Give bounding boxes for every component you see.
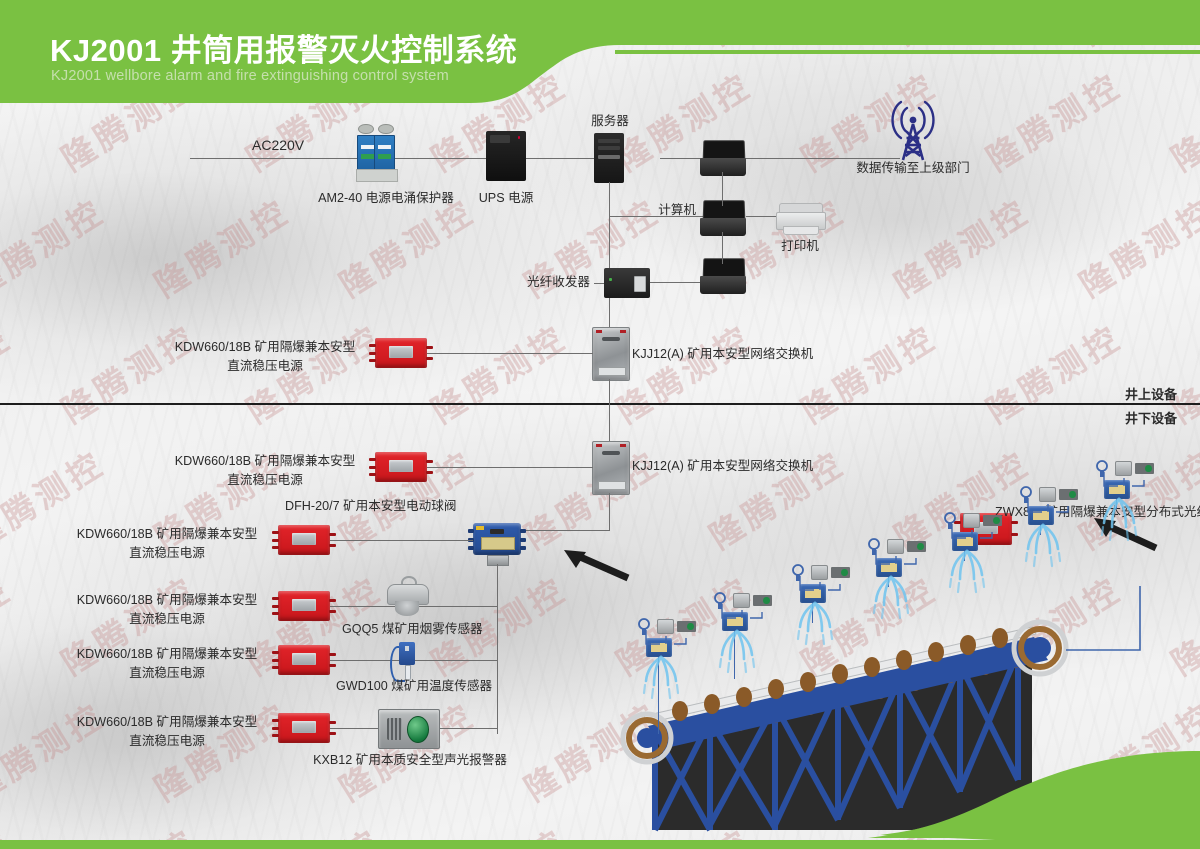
ps-surface-lug-2 xyxy=(369,352,376,355)
device-sound-light-alarm xyxy=(378,709,440,749)
ball-valve-ma-mark xyxy=(476,526,483,530)
surface-underground-divider xyxy=(0,403,1200,405)
label-power-supply-surface: KDW660/18B 矿用隔爆兼本安型 直流稳压电源 xyxy=(160,338,370,376)
device-smoke-sensor xyxy=(383,576,431,620)
wire-sensor-collector xyxy=(497,564,498,734)
device-network-switch-surface xyxy=(592,327,630,381)
wire-power-main xyxy=(190,158,614,159)
ups-panel xyxy=(490,135,510,143)
device-server xyxy=(594,133,624,183)
ps-surface-lug-3 xyxy=(369,359,376,362)
printer-tray xyxy=(783,226,820,235)
device-network-switch-underground xyxy=(592,441,630,495)
label-computer: 计算机 xyxy=(600,202,696,219)
label-sound-light-alarm: KXB12 矿用本质安全型声光报警器 xyxy=(310,752,510,769)
device-computer-3 xyxy=(700,258,746,294)
page-header: KJ2001 井筒用报警灭火控制系统 KJ2001 wellbore alarm… xyxy=(0,0,1200,103)
device-power-supply-u3 xyxy=(278,591,330,621)
surge-button-left xyxy=(358,124,374,134)
label-power-supply-u4: KDW660/18B 矿用隔爆兼本安型 直流稳压电源 xyxy=(62,645,272,683)
ps-surface-lug-1 xyxy=(369,344,376,347)
surge-button-right xyxy=(378,124,394,134)
device-fiber-transceiver xyxy=(604,268,650,298)
sprinkler-wiring xyxy=(944,520,1000,546)
label-below-ground: 井下设备 xyxy=(1125,410,1177,427)
server-bay-2 xyxy=(598,146,621,150)
ps-surface-lug-4 xyxy=(426,346,433,349)
sprinkler-spray-icon xyxy=(1098,497,1142,545)
label-power-supply-u5: KDW660/18B 矿用隔爆兼本安型 直流稳压电源 xyxy=(62,713,272,751)
device-temperature-sensor xyxy=(388,639,426,681)
alarm-horn xyxy=(387,718,401,739)
computer-1-base xyxy=(700,158,746,176)
switch-surface-tag-l xyxy=(596,330,602,333)
sprinkler-wiring xyxy=(714,600,770,626)
label-ps-u2-line2: 直流稳压电源 xyxy=(62,544,272,563)
sprinkler-spray-icon xyxy=(1022,523,1066,571)
sprinkler-spray-icon xyxy=(640,655,684,703)
switch-ug-slot xyxy=(602,451,619,455)
smoke-sensor-chamber xyxy=(395,601,420,616)
label-ac220v: AC220V xyxy=(252,137,304,154)
label-ps-u1-line1: KDW660/18B 矿用隔爆兼本安型 xyxy=(160,452,370,471)
ball-valve-window xyxy=(490,529,503,533)
alarm-lamp xyxy=(407,716,429,743)
label-temperature-sensor: GWD100 煤矿用温度传感器 xyxy=(336,678,488,695)
wire-computer-2-3 xyxy=(722,232,723,264)
switch-surface-plate xyxy=(598,367,626,376)
label-smoke-sensor: GQQ5 煤矿用烟雾传感器 xyxy=(342,621,482,638)
wire-uplink xyxy=(660,158,900,159)
label-ps-surface-line1: KDW660/18B 矿用隔爆兼本安型 xyxy=(160,338,370,357)
sprinkler-spray-icon xyxy=(946,549,990,597)
wire-computer-1-2 xyxy=(722,172,723,206)
wire-ps-u1-switch xyxy=(427,467,593,468)
device-computer-1 xyxy=(700,140,746,176)
label-ps-u2-line1: KDW660/18B 矿用隔爆兼本安型 xyxy=(62,525,272,544)
device-power-supply-u1 xyxy=(375,452,427,482)
sprinkler-wiring xyxy=(868,546,924,572)
switch-ug-plate xyxy=(598,481,626,490)
device-power-supply-u4 xyxy=(278,645,330,675)
sprinkler-node xyxy=(712,588,802,678)
uplink-antenna-icon xyxy=(885,98,941,164)
ball-valve-plate xyxy=(481,537,516,550)
label-uplink-antenna: 数据传输至上级部门 xyxy=(843,160,983,177)
diagram-canvas: 隆腾测控隆腾测控隆腾测控隆腾测控隆腾测控隆腾测控隆腾测控隆腾测控隆腾测控隆腾测控… xyxy=(0,0,1200,849)
label-ps-u1-line2: 直流稳压电源 xyxy=(160,471,370,490)
wire-host-to-conveyor xyxy=(1066,586,1140,650)
label-ps-u3-line1: KDW660/18B 矿用隔爆兼本安型 xyxy=(62,591,272,610)
device-computer-2 xyxy=(700,200,746,236)
label-fiber-transceiver: 光纤收发器 xyxy=(490,274,590,291)
page-title: KJ2001 井筒用报警灭火控制系统 xyxy=(50,25,517,70)
ups-led xyxy=(518,136,521,139)
wire-ps-u2-valve xyxy=(330,540,473,541)
wire-printer xyxy=(746,216,776,217)
device-ups xyxy=(486,131,526,181)
label-server: 服务器 xyxy=(570,113,650,130)
device-surge-protector xyxy=(356,130,396,182)
surge-din-rail xyxy=(356,169,398,182)
fiber-led xyxy=(609,278,613,281)
ball-valve-actuator xyxy=(487,555,509,566)
label-surge-protector: AM2-40 电源电涌保护器 xyxy=(306,190,466,207)
label-ups: UPS 电源 xyxy=(466,190,546,207)
sprinkler-spray-icon xyxy=(794,601,838,649)
device-power-supply-u2 xyxy=(278,525,330,555)
temp-sensor-display xyxy=(405,646,409,651)
sprinkler-wiring xyxy=(638,626,694,652)
page-footer-bar xyxy=(0,840,1200,849)
device-power-supply-u5 xyxy=(278,713,330,743)
sprinkler-wiring xyxy=(1020,494,1076,520)
temp-sensor-body xyxy=(399,642,414,666)
ps-surface-lug-5 xyxy=(426,357,433,360)
switch-ug-tag-l xyxy=(596,444,602,447)
sprinkler-spray-icon xyxy=(870,575,914,623)
label-power-supply-u2: KDW660/18B 矿用隔爆兼本安型 直流稳压电源 xyxy=(62,525,272,563)
page-subtitle: KJ2001 wellbore alarm and fire extinguis… xyxy=(51,68,449,84)
sprinkler-wiring xyxy=(792,572,848,598)
conveyor-tail-pulley xyxy=(623,714,671,762)
computer-2-base xyxy=(700,218,746,236)
label-network-switch-surface: KJJ12(A) 矿用本安型网络交换机 xyxy=(632,346,813,363)
device-power-supply-surface xyxy=(375,338,427,368)
switch-surface-slot xyxy=(602,337,619,341)
label-ps-u4-line1: KDW660/18B 矿用隔爆兼本安型 xyxy=(62,645,272,664)
switch-surface-tag-r xyxy=(620,330,626,333)
sprinkler-node xyxy=(1094,456,1184,546)
label-power-supply-u3: KDW660/18B 矿用隔爆兼本安型 直流稳压电源 xyxy=(62,591,272,629)
computer-3-base xyxy=(700,276,746,294)
label-printer: 打印机 xyxy=(760,238,840,255)
wire-ps-surface-switch xyxy=(427,353,593,354)
device-printer xyxy=(776,203,824,234)
sprinkler-wiring xyxy=(1096,468,1152,494)
switch-ug-tag-r xyxy=(620,444,626,447)
server-bay-3 xyxy=(598,155,621,159)
sprinkler-spray-icon xyxy=(716,629,760,677)
fiber-rj45-port xyxy=(634,276,646,292)
label-network-switch-underground: KJJ12(A) 矿用本安型网络交换机 xyxy=(632,458,813,475)
label-above-ground: 井上设备 xyxy=(1125,386,1177,403)
label-power-supply-u1: KDW660/18B 矿用隔爆兼本安型 直流稳压电源 xyxy=(160,452,370,490)
label-ps-u5-line2: 直流稳压电源 xyxy=(62,732,272,751)
wire-switch-trunk xyxy=(609,493,610,530)
conveyor-head-pulley xyxy=(1014,622,1066,674)
label-ps-surface-line2: 直流稳压电源 xyxy=(160,357,370,376)
label-ps-u5-line1: KDW660/18B 矿用隔爆兼本安型 xyxy=(62,713,272,732)
label-ps-u3-line2: 直流稳压电源 xyxy=(62,610,272,629)
device-ball-valve xyxy=(473,523,521,555)
label-ps-u4-line2: 直流稳压电源 xyxy=(62,664,272,683)
server-bay-1 xyxy=(598,139,621,143)
label-ball-valve: DFH-20/7 矿用本安型电动球阀 xyxy=(285,498,456,515)
